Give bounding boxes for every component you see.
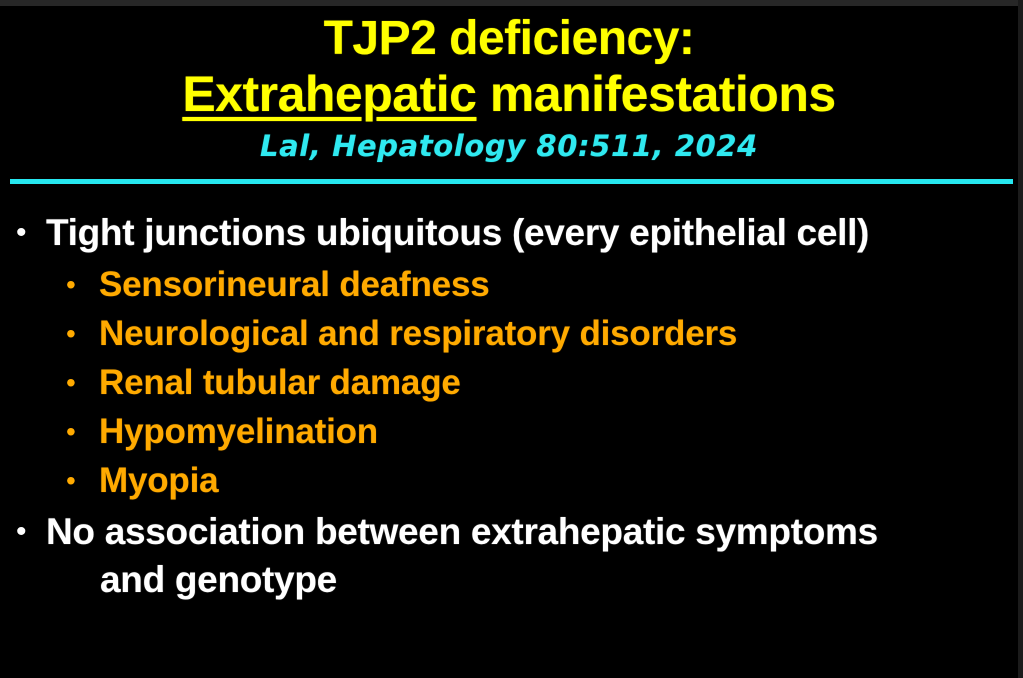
slide-title-line-2: Extrahepatic manifestations bbox=[0, 66, 1018, 122]
window-right-edge-strip bbox=[1018, 0, 1023, 678]
slide-canvas: TJP2 deficiency: Extrahepatic manifestat… bbox=[0, 0, 1023, 678]
slide-title-line-1: TJP2 deficiency: bbox=[0, 12, 1018, 66]
slide-body-bullet-list: •Tight junctions ubiquitous (every epith… bbox=[0, 210, 1018, 603]
bullet-marker-icon: • bbox=[16, 509, 46, 555]
bullet-marker-icon: • bbox=[16, 210, 46, 256]
sub-bullet-item-myopia: •Myopia bbox=[0, 456, 1018, 505]
sub-bullet-marker-icon: • bbox=[66, 358, 99, 407]
slide-title-emphasis: Extrahepatic bbox=[182, 66, 476, 122]
sub-bullet-text: Renal tubular damage bbox=[99, 358, 461, 407]
title-divider-rule bbox=[10, 179, 1013, 184]
sub-bullet-marker-icon: • bbox=[66, 407, 99, 456]
sub-bullet-text: Neurological and respiratory disorders bbox=[99, 309, 737, 358]
sub-bullet-marker-icon: • bbox=[66, 260, 99, 309]
bullet-item-no-association-continuation: and genotype bbox=[0, 557, 1018, 603]
slide-title-block: TJP2 deficiency: Extrahepatic manifestat… bbox=[0, 12, 1018, 164]
window-top-edge-strip bbox=[0, 0, 1023, 6]
sub-bullet-text: Sensorineural deafness bbox=[99, 260, 489, 309]
sub-bullet-item-hypomyelination: •Hypomyelination bbox=[0, 407, 1018, 456]
bullet-text: No association between extrahepatic symp… bbox=[46, 509, 878, 555]
bullet-item-no-association: •No association between extrahepatic sym… bbox=[0, 509, 1018, 555]
sub-bullet-text: Hypomyelination bbox=[99, 407, 378, 456]
sub-bullet-text: Myopia bbox=[99, 456, 218, 505]
bullet-text: Tight junctions ubiquitous (every epithe… bbox=[46, 210, 869, 256]
bullet-text-continuation: and genotype bbox=[100, 557, 337, 603]
sub-bullet-item-neurological-respiratory: •Neurological and respiratory disorders bbox=[0, 309, 1018, 358]
slide-citation: Lal, Hepatology 80:511, 2024 bbox=[0, 128, 1018, 164]
bullet-item-tight-junctions: •Tight junctions ubiquitous (every epith… bbox=[0, 210, 1018, 256]
sub-bullet-group: •Sensorineural deafness •Neurological an… bbox=[0, 260, 1018, 505]
sub-bullet-marker-icon: • bbox=[66, 456, 99, 505]
slide-title-line-2-rest: manifestations bbox=[476, 66, 835, 122]
sub-bullet-item-sensorineural-deafness: •Sensorineural deafness bbox=[0, 260, 1018, 309]
sub-bullet-marker-icon: • bbox=[66, 309, 99, 358]
sub-bullet-item-renal-tubular-damage: •Renal tubular damage bbox=[0, 358, 1018, 407]
